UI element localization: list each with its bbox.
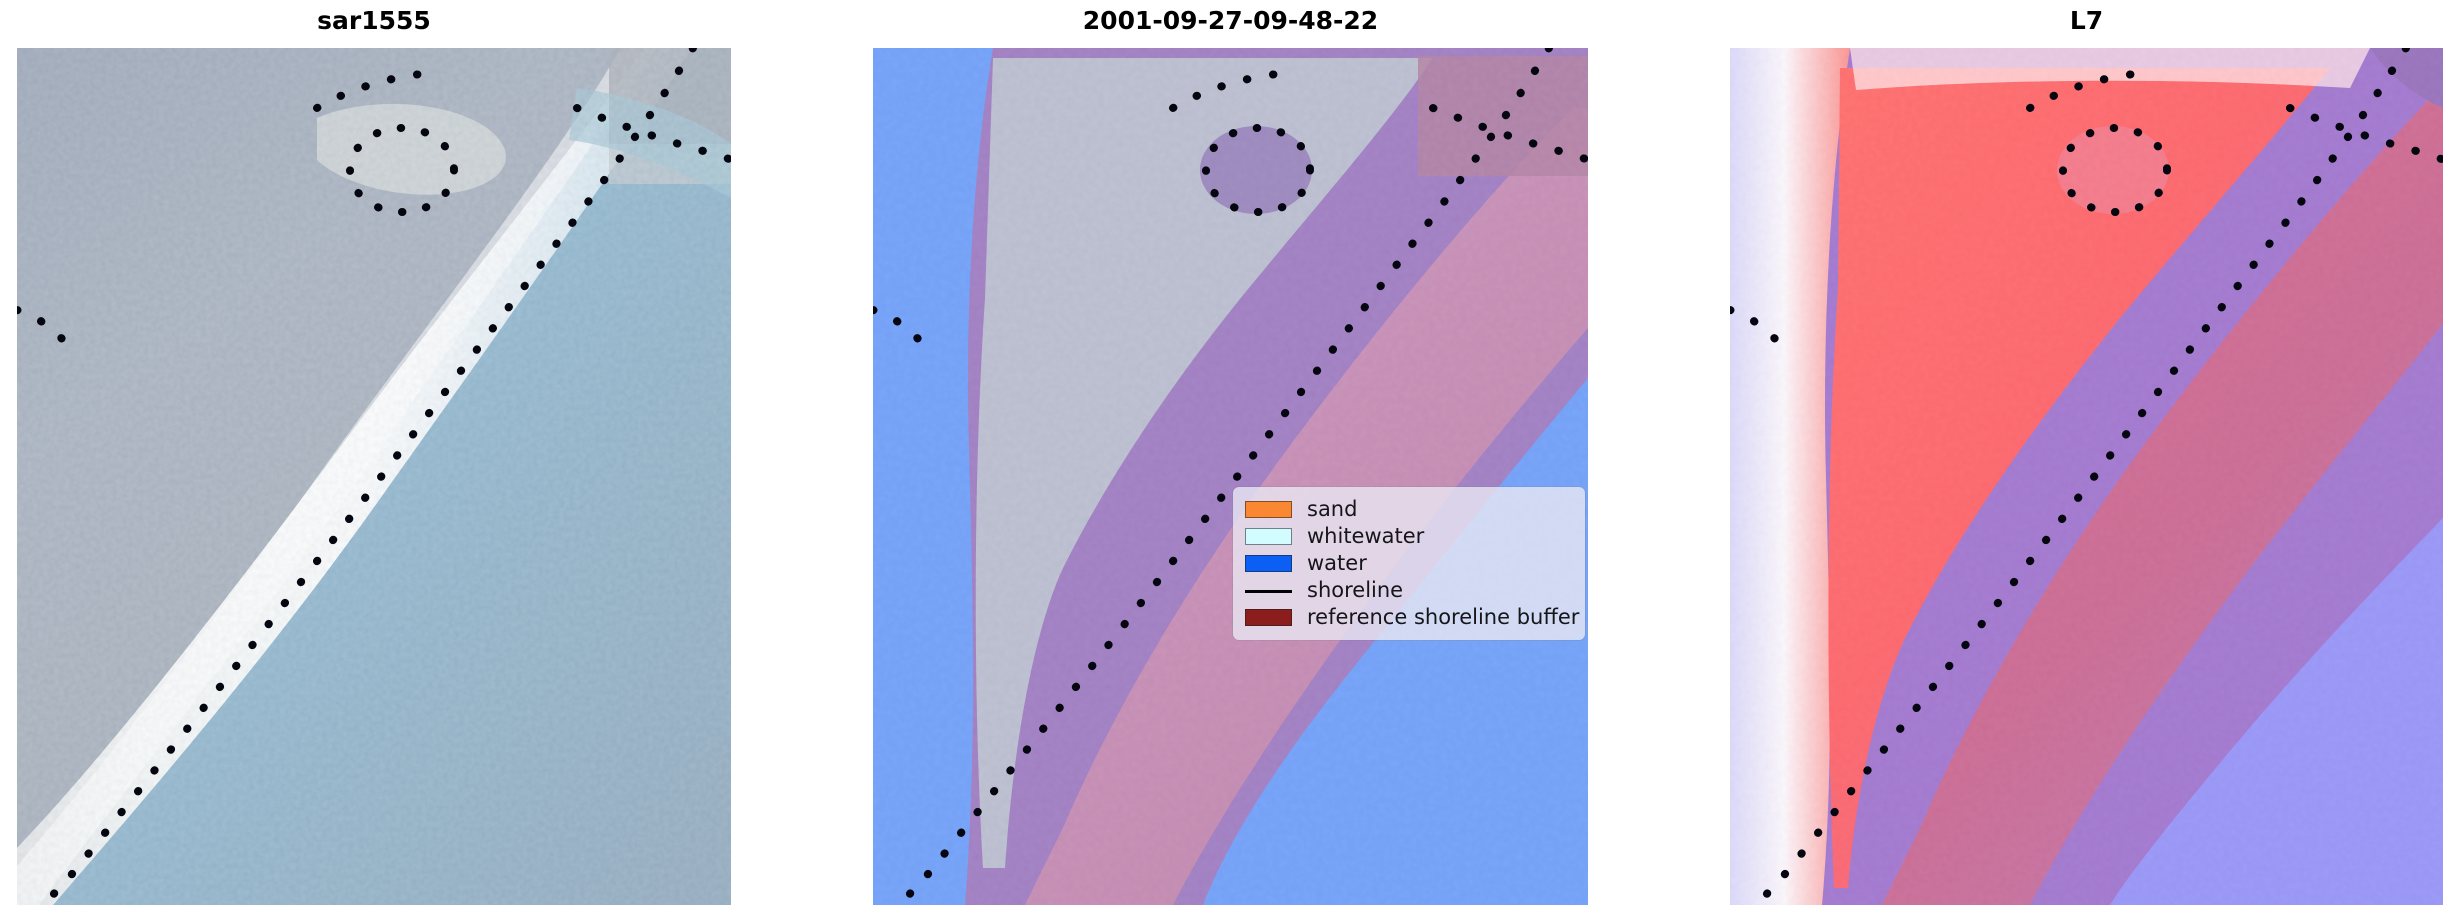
- panel-classification[interactable]: [873, 48, 1588, 905]
- legend-label-reference-shoreline-buffer: reference shoreline buffer: [1307, 607, 1579, 628]
- index-raster: [1730, 48, 2443, 905]
- legend-label-shoreline: shoreline: [1307, 580, 1403, 601]
- panel-rgb-satellite[interactable]: [17, 48, 731, 905]
- legend-label-sand: sand: [1307, 499, 1357, 520]
- legend-item-water: water: [1245, 550, 1575, 577]
- legend-item-shoreline: shoreline: [1245, 577, 1575, 604]
- legend-item-reference-shoreline-buffer: reference shoreline buffer: [1245, 604, 1575, 631]
- panel-title-1: sar1555: [17, 6, 731, 35]
- classification-raster: [873, 48, 1588, 905]
- legend-swatch-shoreline: [1245, 590, 1292, 593]
- legend-label-whitewater: whitewater: [1307, 526, 1424, 547]
- panel-title-3: L7: [1730, 6, 2443, 35]
- panel-index-image[interactable]: [1730, 48, 2443, 905]
- legend: sand whitewater water shoreline referenc…: [1233, 487, 1585, 640]
- rgb-satellite-raster: [17, 48, 731, 905]
- legend-swatch-water: [1245, 555, 1292, 572]
- legend-label-water: water: [1307, 553, 1367, 574]
- legend-item-whitewater: whitewater: [1245, 523, 1575, 550]
- figure-root: sar1555 2001-09-27-09-48-22 L7: [0, 0, 2460, 920]
- legend-swatch-whitewater: [1245, 528, 1292, 545]
- panel-title-2: 2001-09-27-09-48-22: [873, 6, 1588, 35]
- legend-swatch-reference-shoreline-buffer: [1245, 609, 1292, 626]
- legend-swatch-sand: [1245, 501, 1292, 518]
- legend-item-sand: sand: [1245, 496, 1575, 523]
